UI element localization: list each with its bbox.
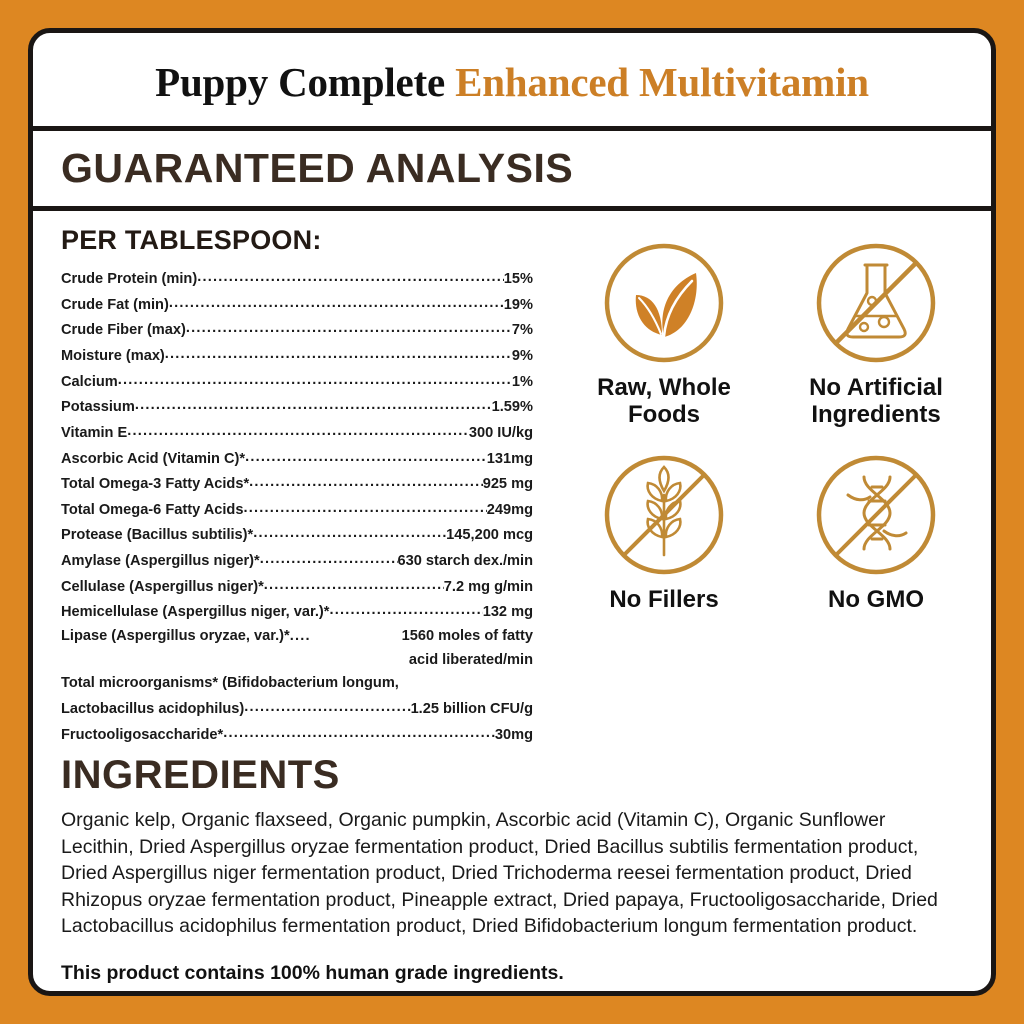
badges-column: Raw, Whole Foods (553, 225, 991, 614)
analysis-row: Total Omega-6 Fatty Acids...............… (61, 497, 533, 523)
analysis-row: Cellulase (Aspergillus niger)*..........… (61, 574, 533, 600)
leader-dots: ........................................… (127, 420, 469, 444)
product-title-accent: Enhanced Multivitamin (455, 59, 869, 105)
badge-label: No Artificial Ingredients (775, 375, 977, 429)
leader-dots: ........................................… (165, 343, 512, 367)
leader-dots: ........................................… (253, 522, 446, 546)
analysis-row-label: Moisture (max) (61, 345, 165, 369)
analysis-row-value: 1% (512, 371, 533, 395)
analysis-and-badges: PER TABLESPOON: Crude Protein (min).....… (33, 211, 991, 747)
analysis-row-value: 1.25 billion CFU/g (411, 698, 533, 722)
analysis-row-label: Total Omega-6 Fatty Acids (61, 499, 243, 523)
badge-label-line1: No GMO (775, 587, 977, 614)
badge-no-fillers: No Fillers (563, 451, 765, 614)
analysis-row-label: Ascorbic Acid (Vitamin C)* (61, 448, 245, 472)
analysis-row-label: Total Omega-3 Fatty Acids* (61, 473, 249, 497)
badge-label-line1: Raw, Whole (563, 375, 765, 402)
badge-raw-whole-foods: Raw, Whole Foods (563, 239, 765, 429)
leader-dots: ........................................… (223, 722, 495, 746)
analysis-row: Crude Protein (min).....................… (61, 266, 533, 292)
leader-dots: ........................................… (264, 574, 444, 598)
badge-label: Raw, Whole Foods (563, 375, 765, 429)
analysis-row-label: Calcium (61, 371, 118, 395)
analysis-row-value: 925 mg (483, 473, 533, 497)
analysis-row: Total Omega-3 Fatty Acids*..............… (61, 471, 533, 497)
analysis-row-label: Protease (Bacillus subtilis)* (61, 524, 253, 548)
badge-label-line1: No Artificial (775, 375, 977, 402)
analysis-row-label: Total microorganisms* (Bifidobacterium l… (61, 672, 533, 696)
analysis-row-label: Crude Protein (min) (61, 268, 197, 292)
analysis-row-value: 145,200 mcg (446, 524, 533, 548)
leader-dots: ........................................… (135, 394, 492, 418)
badge-no-artificial-ingredients: No Artificial Ingredients (775, 239, 977, 429)
analysis-row-value: 249mg (487, 499, 533, 523)
leader-dots: ........................................… (197, 266, 504, 290)
analysis-row: Calcium.................................… (61, 369, 533, 395)
analysis-row: Lipase (Aspergillus oryzae, var.)*....15… (61, 625, 533, 649)
badge-grid: Raw, Whole Foods (563, 239, 977, 614)
badge-label-line2: Ingredients (775, 402, 977, 429)
product-title: Puppy Complete Enhanced Multivitamin (33, 33, 991, 126)
analysis-row-value: 19% (504, 294, 533, 318)
analysis-row-label: Vitamin E (61, 422, 127, 446)
analysis-row-value: 30mg (495, 724, 533, 748)
analysis-row: Fructooligosaccharide*..................… (61, 722, 533, 748)
analysis-row-value-continued: acid liberated/min (61, 649, 533, 673)
wheat-no-icon (600, 451, 728, 579)
analysis-row: Ascorbic Acid (Vitamin C)*..............… (61, 446, 533, 472)
analysis-row-label: Fructooligosaccharide* (61, 724, 223, 748)
per-serving-heading: PER TABLESPOON: (61, 225, 553, 256)
leader-dots: ........................................… (243, 497, 486, 521)
badge-label-line1: No Fillers (563, 587, 765, 614)
leader-dots: .... (290, 625, 311, 649)
analysis-row-value: 9% (512, 345, 533, 369)
badge-label: No Fillers (563, 587, 765, 614)
analysis-row-label: Cellulase (Aspergillus niger)* (61, 576, 264, 600)
dna-no-icon (812, 451, 940, 579)
analysis-row: Crude Fat (min).........................… (61, 292, 533, 318)
guaranteed-analysis-heading: GUARANTEED ANALYSIS (33, 131, 991, 206)
leader-dots: ........................................… (249, 471, 483, 495)
analysis-row-label: Crude Fat (min) (61, 294, 169, 318)
leader-dots: ........................................… (260, 548, 398, 572)
badge-no-gmo: No GMO (775, 451, 977, 614)
analysis-row: Crude Fiber (max).......................… (61, 317, 533, 343)
leader-dots: ........................................… (245, 446, 487, 470)
leader-dots: ........................................… (118, 369, 512, 393)
badge-label: No GMO (775, 587, 977, 614)
analysis-row-value: 1.59% (492, 396, 533, 420)
leaves-icon (600, 239, 728, 367)
analysis-row-value: 300 IU/kg (469, 422, 533, 446)
analysis-row-lipase: Lipase (Aspergillus oryzae, var.)*....15… (61, 625, 533, 672)
leader-dots: ........................................… (329, 599, 482, 623)
product-title-primary: Puppy Complete (155, 59, 445, 105)
analysis-row-value: 132 mg (483, 601, 533, 625)
analysis-row: Lactobacillus acidophilus)..............… (61, 696, 533, 722)
ingredients-note: This product contains 100% human grade i… (33, 940, 991, 985)
analysis-row-value: 7% (512, 319, 533, 343)
leader-dots: ........................................… (169, 292, 504, 316)
analysis-row-label: Hemicellulase (Aspergillus niger, var.)* (61, 601, 329, 625)
analysis-row-value: 131mg (487, 448, 533, 472)
label-card: Puppy Complete Enhanced Multivitamin GUA… (28, 28, 996, 996)
analysis-row-value: 630 starch dex./min (398, 550, 533, 574)
analysis-row: Amylase (Aspergillus niger)*............… (61, 548, 533, 574)
analysis-row-label: Crude Fiber (max) (61, 319, 186, 343)
analysis-row-label: Amylase (Aspergillus niger)* (61, 550, 260, 574)
analysis-row: Moisture (max)..........................… (61, 343, 533, 369)
ingredients-heading: INGREDIENTS (33, 747, 991, 803)
flask-no-icon (812, 239, 940, 367)
analysis-row-label: Potassium (61, 396, 135, 420)
analysis-row-value: 7.2 mg g/min (444, 576, 533, 600)
leader-dots: ........................................… (244, 696, 410, 720)
analysis-row: Potassium...............................… (61, 394, 533, 420)
badge-label-line2: Foods (563, 402, 765, 429)
leader-dots: ........................................… (186, 317, 512, 341)
analysis-row: Vitamin E...............................… (61, 420, 533, 446)
analysis-row-value: 15% (504, 268, 533, 292)
analysis-row-label: Lactobacillus acidophilus) (61, 698, 244, 722)
analysis-row-value: 1560 moles of fatty (311, 625, 533, 649)
analysis-row: Hemicellulase (Aspergillus niger, var.)*… (61, 599, 533, 625)
analysis-row-label: Lipase (Aspergillus oryzae, var.)* (61, 625, 290, 649)
analysis-row-microorganisms: Total microorganisms* (Bifidobacterium l… (61, 672, 533, 721)
ingredients-body: Organic kelp, Organic flaxseed, Organic … (33, 803, 991, 940)
analysis-row: Protease (Bacillus subtilis)*...........… (61, 522, 533, 548)
analysis-column: PER TABLESPOON: Crude Protein (min).....… (33, 225, 553, 747)
analysis-row-list: Crude Protein (min).....................… (61, 266, 553, 747)
